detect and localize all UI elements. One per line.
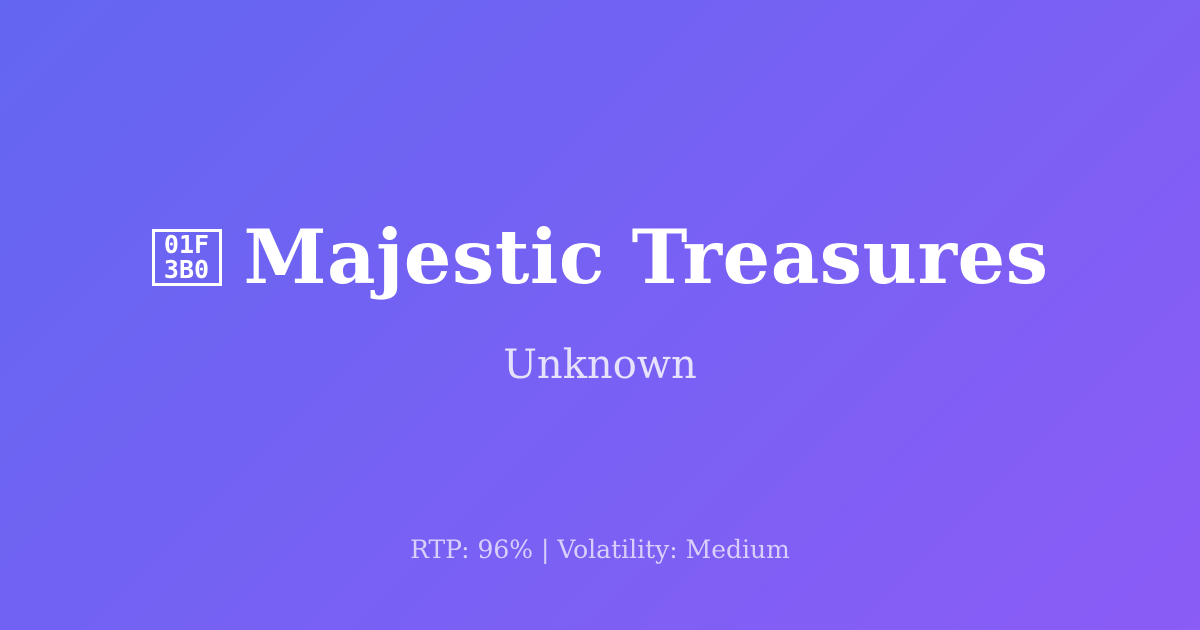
slot-machine-icon-codepoint-bottom: 3B0 [164,257,209,282]
slot-machine-icon-codepoint-top: 01F [164,232,209,257]
card-hero: 01F 3B0 Majestic Treasures Unknown [152,220,1049,385]
game-preview-card: 01F 3B0 Majestic Treasures Unknown RTP: … [0,0,1200,630]
slot-machine-icon: 01F 3B0 [152,229,222,286]
card-footer-stats: RTP: 96% | Volatility: Medium [0,537,1200,562]
title-row: 01F 3B0 Majestic Treasures [152,220,1049,295]
page-title: Majestic Treasures [244,220,1049,295]
card-subtitle: Unknown [503,345,697,385]
